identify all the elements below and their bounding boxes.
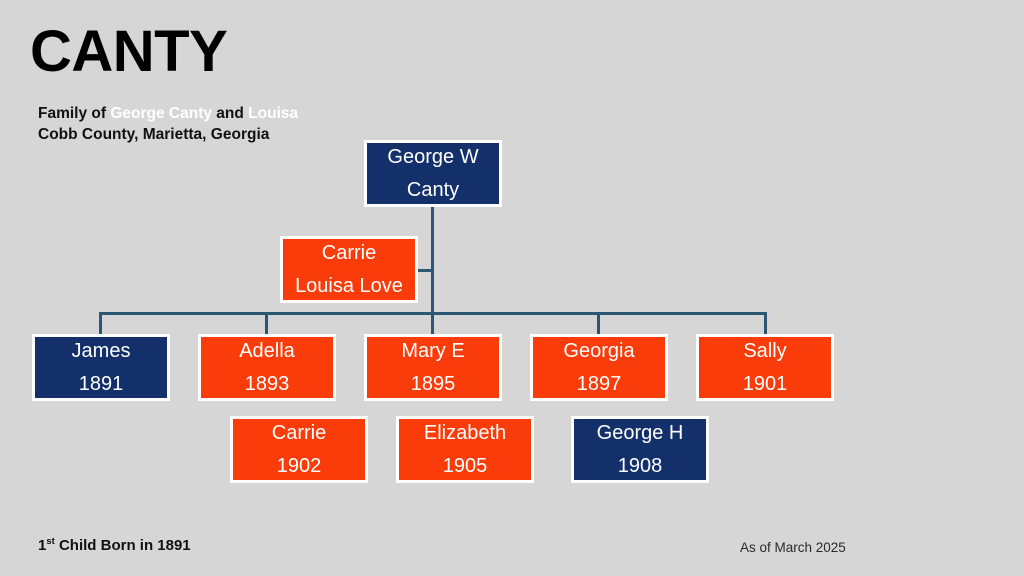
connector-mother-stub: [418, 269, 434, 272]
node-child-name: George H: [597, 421, 684, 446]
node-child-year: 1902: [277, 454, 322, 479]
node-child-year: 1908: [618, 454, 663, 479]
node-father[interactable]: George W Canty: [364, 140, 502, 207]
connector-drop-sally: [764, 312, 767, 334]
node-child-name: Carrie: [272, 421, 326, 446]
node-child-name: Sally: [743, 339, 786, 364]
node-child-elizabeth[interactable]: Elizabeth 1905: [396, 416, 534, 483]
node-child-year: 1905: [443, 454, 488, 479]
page-title: CANTY: [30, 22, 227, 83]
node-mother-name-line-1: Carrie: [322, 241, 376, 266]
node-child-sally[interactable]: Sally 1901: [696, 334, 834, 401]
subtitle-line-2: Cobb County, Marietta, Georgia: [38, 124, 298, 145]
connector-drop-james: [99, 312, 102, 334]
node-child-name: Adella: [239, 339, 295, 364]
node-child-year: 1897: [577, 372, 622, 397]
subtitle-father-name: George Canty: [110, 105, 212, 122]
connector-drop-georgia: [597, 312, 600, 334]
node-child-year: 1891: [79, 372, 124, 397]
footer-note-first-child: 1st Child Born in 1891: [38, 537, 191, 554]
node-mother[interactable]: Carrie Louisa Love: [280, 236, 418, 303]
node-child-mary-e[interactable]: Mary E 1895: [364, 334, 502, 401]
node-father-name-line-1: George W: [387, 145, 478, 170]
subtitle: Family of George Canty and Louisa Cobb C…: [38, 103, 298, 146]
footer-as-of-date: As of March 2025: [740, 540, 846, 555]
node-child-georgia[interactable]: Georgia 1897: [530, 334, 668, 401]
slide-canvas: CANTY Family of George Canty and Louisa …: [0, 0, 1024, 576]
footer-note-text: Child Born in 1891: [55, 537, 191, 554]
connector-drop-mary-e: [431, 312, 434, 334]
node-child-year: 1901: [743, 372, 788, 397]
subtitle-family-of-label: Family of: [38, 105, 110, 122]
subtitle-mother-name: Louisa: [248, 105, 298, 122]
node-child-name: Mary E: [401, 339, 464, 364]
node-child-george-h[interactable]: George H 1908: [571, 416, 709, 483]
node-child-year: 1895: [411, 372, 456, 397]
node-child-name: James: [72, 339, 131, 364]
node-mother-name-line-2: Louisa Love: [295, 274, 403, 299]
node-child-name: Georgia: [563, 339, 634, 364]
node-child-carrie[interactable]: Carrie 1902: [230, 416, 368, 483]
node-child-james[interactable]: James 1891: [32, 334, 170, 401]
node-father-name-line-2: Canty: [407, 178, 459, 203]
node-child-adella[interactable]: Adella 1893: [198, 334, 336, 401]
node-child-year: 1893: [245, 372, 290, 397]
footer-ordinal-suffix: st: [46, 536, 54, 547]
node-child-name: Elizabeth: [424, 421, 506, 446]
subtitle-and-label: and: [212, 105, 248, 122]
subtitle-line-1: Family of George Canty and Louisa: [38, 103, 298, 124]
connector-father-trunk: [431, 206, 434, 314]
connector-drop-adella: [265, 312, 268, 334]
